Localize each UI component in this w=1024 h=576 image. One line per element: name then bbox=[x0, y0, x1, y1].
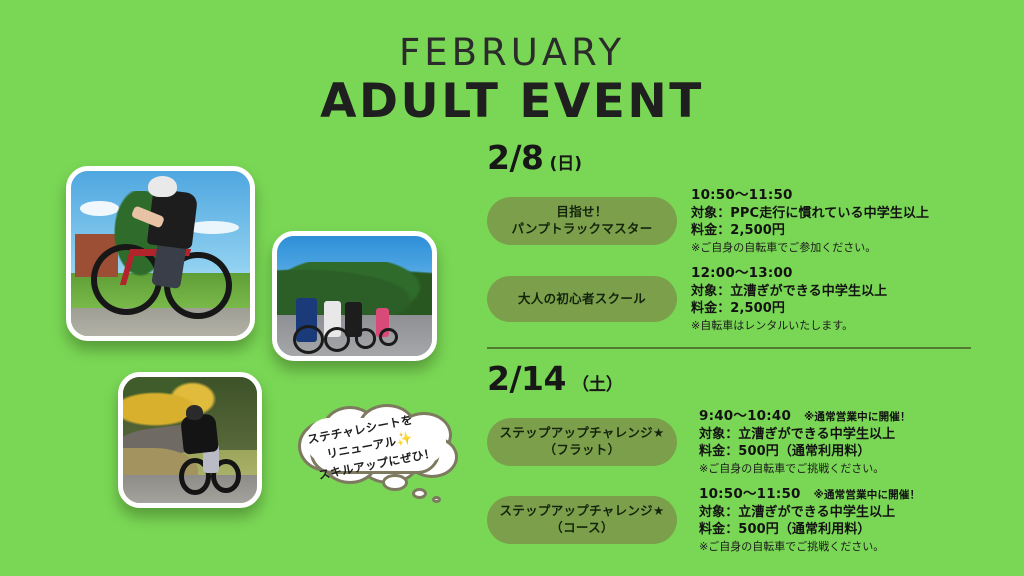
title-month: FEBRUARY bbox=[0, 34, 1024, 73]
section-divider bbox=[487, 347, 971, 349]
photo-pumptrack-rider bbox=[118, 372, 262, 508]
pill-line-2: パンプトラックマスター bbox=[511, 221, 652, 236]
event-fee: 料金：2,500円 bbox=[691, 222, 987, 239]
event-time-value: 10:50〜11:50 bbox=[699, 486, 801, 502]
event-time: 10:50〜11:50 ※通常営業中に開催！ bbox=[699, 486, 987, 504]
event-row[interactable]: ステップアップチャレンジ★ （コース） 10:50〜11:50 ※通常営業中に開… bbox=[487, 486, 987, 554]
photo-rider-jump bbox=[66, 166, 255, 341]
event-poster: FEBRUARY ADULT EVENT bbox=[0, 0, 1024, 576]
date-heading: 2/8 (日) bbox=[487, 138, 987, 177]
event-time: 10:50〜11:50 bbox=[691, 187, 987, 205]
event-note: ※ご自身の自転車でご挑戦ください。 bbox=[699, 461, 987, 476]
event-title-pill[interactable]: 目指せ！ パンプトラックマスター bbox=[487, 197, 677, 245]
pill-line-1: 大人の初心者スクール bbox=[518, 291, 646, 308]
date-dayofweek: (日) bbox=[549, 149, 582, 174]
photo-bike-wheel bbox=[324, 327, 350, 352]
event-note: ※ご自身の自転車でご参加ください。 bbox=[691, 240, 987, 255]
event-fee: 料金：500円（通常利用料） bbox=[699, 443, 987, 460]
schedule-section-1: 2/14 （土） ステップアップチャレンジ★ （フラット） 9:40〜10:40… bbox=[487, 359, 987, 554]
pill-line-1: ステップアップチャレンジ★ bbox=[500, 425, 665, 440]
event-time: 9:40〜10:40 ※通常営業中に開催！ bbox=[699, 408, 987, 426]
pill-line-1: ステップアップチャレンジ★ bbox=[500, 503, 665, 518]
event-target: 対象：立漕ぎができる中学生以上 bbox=[699, 426, 987, 443]
bubble-tail-dot bbox=[432, 496, 441, 503]
schedule-section-0: 2/8 (日) 目指せ！ パンプトラックマスター 10:50〜11:50 対象：… bbox=[487, 138, 987, 333]
event-time: 12:00〜13:00 bbox=[691, 265, 987, 283]
event-note: ※自転車はレンタルいたします。 bbox=[691, 318, 987, 333]
event-note: ※ご自身の自転車でご挑戦ください。 bbox=[699, 539, 987, 554]
photo-rider-helmet bbox=[148, 176, 177, 197]
bubble-tail-dot bbox=[412, 488, 427, 499]
event-title-pill[interactable]: ステップアップチャレンジ★ （フラット） bbox=[487, 418, 677, 466]
event-target: 対象：立漕ぎができる中学生以上 bbox=[691, 283, 987, 300]
photo-rider-helmet bbox=[186, 405, 203, 420]
pill-line-2: （コース） bbox=[550, 520, 613, 535]
page-title: FEBRUARY ADULT EVENT bbox=[0, 34, 1024, 128]
date-number: 2/8 bbox=[487, 138, 543, 177]
event-details: 10:50〜11:50 対象：PPC走行に慣れている中学生以上 料金：2,500… bbox=[691, 187, 987, 255]
date-heading: 2/14 （土） bbox=[487, 359, 987, 398]
event-fee: 料金：2,500円 bbox=[691, 300, 987, 317]
event-target: 対象：立漕ぎができる中学生以上 bbox=[699, 504, 987, 521]
event-row[interactable]: ステップアップチャレンジ★ （フラット） 9:40〜10:40 ※通常営業中に開… bbox=[487, 408, 987, 476]
photo-bike-wheel bbox=[355, 328, 377, 348]
event-title-pill[interactable]: ステップアップチャレンジ★ （コース） bbox=[487, 496, 677, 544]
title-main: ADULT EVENT bbox=[0, 77, 1024, 128]
schedule: 2/8 (日) 目指せ！ パンプトラックマスター 10:50〜11:50 対象：… bbox=[487, 138, 987, 554]
event-target: 対象：PPC走行に慣れている中学生以上 bbox=[691, 205, 987, 222]
event-fee: 料金：500円（通常利用料） bbox=[699, 521, 987, 538]
bubble-tail-dot bbox=[382, 474, 408, 491]
event-time-value: 9:40〜10:40 bbox=[699, 408, 791, 424]
photo-bike-wheel bbox=[293, 325, 324, 354]
event-row[interactable]: 目指せ！ パンプトラックマスター 10:50〜11:50 対象：PPC走行に慣れ… bbox=[487, 187, 987, 255]
event-title-pill[interactable]: 大人の初心者スクール bbox=[487, 276, 677, 322]
date-number: 2/14 bbox=[487, 359, 566, 398]
photo-group-lesson bbox=[272, 231, 437, 361]
event-details: 10:50〜11:50 ※通常営業中に開催！ 対象：立漕ぎができる中学生以上 料… bbox=[691, 486, 987, 554]
photo-path bbox=[71, 308, 250, 336]
event-time-note: ※通常営業中に開催！ bbox=[814, 489, 921, 501]
event-details: 9:40〜10:40 ※通常営業中に開催！ 対象：立漕ぎができる中学生以上 料金… bbox=[691, 408, 987, 476]
speech-bubble: ステチャレシートを リニューアル✨ スキルアップにぜひ！ bbox=[296, 404, 466, 514]
date-dayofweek: （土） bbox=[572, 370, 623, 395]
event-time-note: ※通常営業中に開催！ bbox=[804, 411, 911, 423]
event-row[interactable]: 大人の初心者スクール 12:00〜13:00 対象：立漕ぎができる中学生以上 料… bbox=[487, 265, 987, 333]
pill-line-1: 目指せ！ bbox=[556, 204, 607, 219]
event-details: 12:00〜13:00 対象：立漕ぎができる中学生以上 料金：2,500円 ※自… bbox=[691, 265, 987, 333]
pill-line-2: （フラット） bbox=[544, 442, 621, 457]
sparkle-icon: ✨ bbox=[395, 431, 414, 449]
